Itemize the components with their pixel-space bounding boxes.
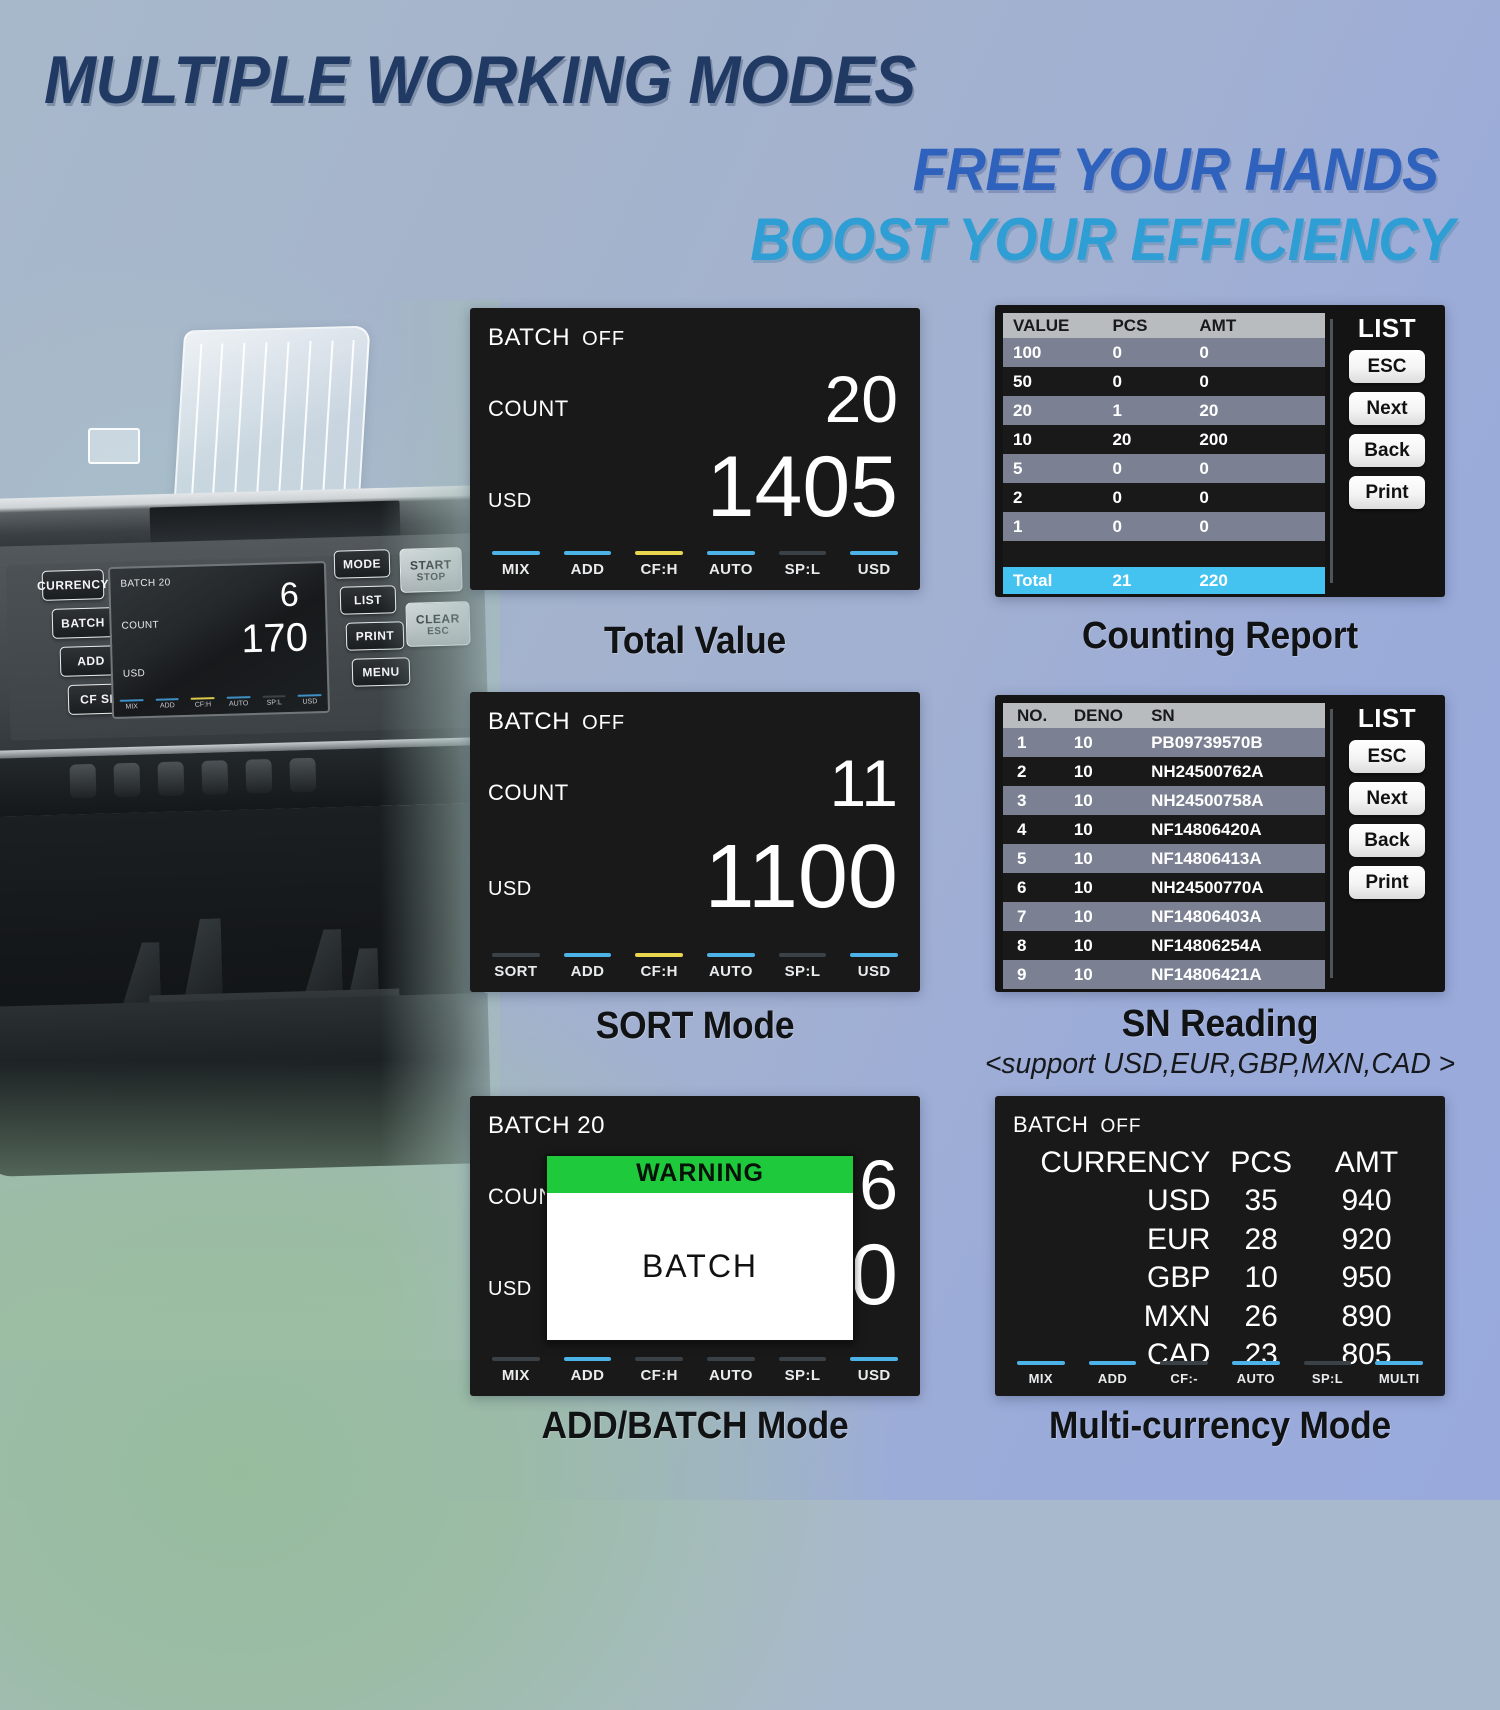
machine-lcd-amount-value: 170	[241, 616, 309, 663]
indicator-bar-sort	[492, 953, 540, 957]
batch-label: BATCH	[488, 324, 570, 351]
indicator-bar-cf	[635, 1357, 683, 1361]
batch-label: BATCH	[488, 708, 570, 735]
headline-line-2: FREE YOUR HANDS	[912, 140, 1438, 200]
table-row: 200	[1003, 483, 1325, 512]
cell-currency: USD	[1035, 1182, 1214, 1220]
cell-no: 2	[1003, 762, 1074, 782]
cell-value: 2	[1003, 488, 1112, 508]
cell-value: 10	[1003, 430, 1112, 450]
warning-dialog-message: BATCH	[547, 1193, 853, 1340]
indicator-bar-usd	[850, 551, 898, 555]
machine-indicator-label: CF:H	[185, 701, 221, 709]
cell-value: 20	[1003, 401, 1112, 421]
screen-sn-reading: NO. DENO SN 110PB09739570B 210NH24500762…	[995, 695, 1445, 992]
indicator-label-cf: CF:H	[623, 963, 695, 980]
table-row: GBP10950	[1035, 1259, 1425, 1297]
indicator-bar-usd	[850, 1357, 898, 1361]
multi-currency-table: CURRENCY PCS AMT USD35940 EUR28920 GBP10…	[1035, 1144, 1425, 1374]
sort-mode-count-label: COUNT	[488, 780, 569, 806]
indicator-label-cf: CF:H	[623, 1367, 695, 1384]
indicator-bar-cf	[1160, 1361, 1208, 1365]
table-row: 910NF14806421A	[1003, 960, 1325, 989]
cell-sn: NF14806254A	[1151, 936, 1325, 956]
column-header-deno: DENO	[1074, 706, 1151, 726]
hopper-clip	[88, 428, 140, 464]
machine-indicator-label: AUTO	[221, 700, 257, 708]
indicator-bar-add	[1089, 1361, 1137, 1365]
cell-no: 4	[1003, 820, 1074, 840]
counting-report-table: VALUE PCS AMT 10000 5000 20120 1020200 5…	[1003, 313, 1325, 589]
caption-add-batch-mode: ADD/BATCH Mode	[486, 1405, 905, 1448]
cell-amt: 890	[1308, 1298, 1425, 1336]
caption-total-value: Total Value	[486, 620, 905, 663]
indicator-bar-mix	[1017, 1361, 1065, 1365]
cell-currency: EUR	[1035, 1221, 1214, 1259]
screen-multi-currency: BATCHOFF CURRENCY PCS AMT USD35940 EUR28…	[995, 1096, 1445, 1396]
sort-mode-currency-label: USD	[488, 878, 532, 901]
headline-line-1: MULTIPLE WORKING MODES	[44, 46, 915, 114]
indicator-bar-auto	[1232, 1361, 1280, 1365]
indicator-label-auto: AUTO	[695, 1367, 767, 1384]
table-row: 310NH24500758A	[1003, 786, 1325, 815]
table-row-spacer	[1003, 541, 1325, 567]
cell-pcs: 0	[1112, 459, 1199, 479]
esc-button[interactable]: ESC	[1349, 350, 1425, 383]
total-value-indicator-bar: MIX ADD CF:H AUTO SP:L USD	[480, 551, 910, 578]
total-value-currency-label: USD	[488, 490, 532, 513]
cell-sn: NF14806413A	[1151, 849, 1325, 869]
machine-lcd-batch: BATCH 20	[120, 577, 171, 589]
cell-sn: NH24500758A	[1151, 791, 1325, 811]
warning-dialog-title: WARNING	[547, 1156, 853, 1193]
indicator-label-add: ADD	[1077, 1371, 1149, 1386]
cell-sn: PB09739570B	[1151, 733, 1325, 753]
table-row: MXN26890	[1035, 1298, 1425, 1336]
indicator-label-add: ADD	[552, 963, 624, 980]
column-header-amt: AMT	[1308, 1144, 1425, 1182]
machine-lcd-indicator-bar: MIX ADD CF:H AUTO SP:L USD	[114, 694, 328, 711]
cell-amt: 200	[1199, 430, 1325, 450]
cell-total-label: Total	[1003, 571, 1112, 591]
machine-lcd-currency-label: USD	[123, 668, 146, 680]
cell-no: 7	[1003, 907, 1074, 927]
headline-line-3: BOOST YOUR EFFICIENCY	[750, 210, 1454, 270]
cell-deno: 10	[1074, 936, 1151, 956]
table-row: 810NF14806254A	[1003, 931, 1325, 960]
multi-currency-batch-header: BATCHOFF	[1013, 1112, 1141, 1138]
batch-value: OFF	[582, 712, 625, 734]
sort-mode-indicator-bar: SORT ADD CF:H AUTO SP:L USD	[480, 953, 910, 980]
counting-report-side-panel: LIST ESC Next Back Print	[1335, 313, 1439, 518]
cell-amt: 950	[1308, 1259, 1425, 1297]
indicator-label-add: ADD	[552, 1367, 624, 1384]
indicator-bar-cf	[635, 551, 683, 555]
indicator-label-sp: SP:L	[767, 1367, 839, 1384]
cell-pcs: 0	[1112, 488, 1199, 508]
indicator-bar-multi	[1375, 1361, 1423, 1365]
cell-value: 100	[1003, 343, 1112, 363]
multi-currency-header-row: CURRENCY PCS AMT	[1035, 1144, 1425, 1182]
add-batch-count-value: 6	[859, 1150, 898, 1220]
indicator-bar-auto	[707, 1357, 755, 1361]
table-row: 210NH24500762A	[1003, 757, 1325, 786]
cell-deno: 10	[1074, 762, 1151, 782]
cell-pcs: 1	[1112, 401, 1199, 421]
cell-sn: NH24500770A	[1151, 878, 1325, 898]
cell-pcs: 0	[1112, 343, 1199, 363]
table-row: 500	[1003, 454, 1325, 483]
indicator-bar-cf	[635, 953, 683, 957]
cell-no: 1	[1003, 733, 1074, 753]
table-row: 100	[1003, 512, 1325, 541]
cell-pcs: 28	[1214, 1221, 1308, 1259]
next-button[interactable]: Next	[1349, 392, 1425, 425]
indicator-bar-add	[564, 953, 612, 957]
column-header-currency: CURRENCY	[1035, 1144, 1214, 1182]
cell-deno: 10	[1074, 907, 1151, 927]
indicator-label-cf: CF:H	[623, 561, 695, 578]
counting-report-header-row: VALUE PCS AMT	[1003, 313, 1325, 338]
column-header-amt: AMT	[1199, 316, 1325, 336]
machine-indicator-label: SP:L	[256, 699, 292, 707]
indicator-label-auto: AUTO	[695, 561, 767, 578]
sort-mode-count-value: 11	[829, 750, 898, 816]
money-counter-machine-photo: CURRENCY BATCH ADD CF SET MODE LIST PRIN…	[0, 300, 470, 1360]
cell-no: 3	[1003, 791, 1074, 811]
batch-label: BATCH	[1013, 1112, 1088, 1137]
indicator-bar-sp	[1304, 1361, 1352, 1365]
cell-amt: 20	[1199, 401, 1325, 421]
total-value-count-value: 20	[825, 366, 898, 432]
table-row: 1020200	[1003, 425, 1325, 454]
indicator-label-sp: SP:L	[767, 561, 839, 578]
add-batch-currency-label: USD	[488, 1278, 532, 1301]
indicator-bar-sp	[779, 1357, 827, 1361]
indicator-label-add: ADD	[552, 561, 624, 578]
warning-dialog: WARNING BATCH	[545, 1154, 855, 1342]
table-row: 410NF14806420A	[1003, 815, 1325, 844]
caption-sort-mode: SORT Mode	[486, 1005, 905, 1048]
table-row: EUR28920	[1035, 1221, 1425, 1259]
table-row: 10000	[1003, 338, 1325, 367]
cell-amt: 0	[1199, 372, 1325, 392]
machine-indicator-label: ADD	[149, 702, 185, 710]
cell-sn: NF14806421A	[1151, 965, 1325, 985]
cell-no: 6	[1003, 878, 1074, 898]
add-batch-batch-header: BATCH 20	[488, 1112, 605, 1140]
machine-indicator-label: MIX	[114, 703, 150, 711]
cell-value: 5	[1003, 459, 1112, 479]
column-header-pcs: PCS	[1214, 1144, 1308, 1182]
cell-pcs: 10	[1214, 1259, 1308, 1297]
cell-no: 9	[1003, 965, 1074, 985]
print-button[interactable]: Print	[1349, 476, 1425, 509]
machine-currency-button[interactable]: CURRENCY	[42, 569, 105, 601]
sort-mode-amount-value: 1100	[704, 832, 898, 922]
back-button[interactable]: Back	[1349, 434, 1425, 467]
indicator-bar-auto	[707, 953, 755, 957]
column-header-no: NO.	[1003, 706, 1074, 726]
cell-pcs: 35	[1214, 1182, 1308, 1220]
machine-lcd-count-label: COUNT	[121, 620, 159, 632]
cell-pcs: 0	[1112, 517, 1199, 537]
print-button[interactable]: Print	[1349, 866, 1425, 899]
indicator-bar-add	[564, 551, 612, 555]
cell-pcs: 26	[1214, 1298, 1308, 1336]
caption-sn-reading: SN Reading	[1011, 1003, 1430, 1046]
screen-add-batch-mode: BATCH 20 COUNT 6 USD 0 WARNING BATCH MIX…	[470, 1096, 920, 1396]
cell-amt: 940	[1308, 1182, 1425, 1220]
indicator-bar-mix	[492, 551, 540, 555]
sort-mode-batch-header: BATCHOFF	[488, 708, 625, 736]
cell-sn: NF14806420A	[1151, 820, 1325, 840]
cell-amt: 0	[1199, 488, 1325, 508]
indicator-label-sort: SORT	[480, 963, 552, 980]
side-panel-title: LIST	[1358, 313, 1416, 344]
indicator-label-auto: AUTO	[1220, 1371, 1292, 1386]
indicator-label-mix: MIX	[480, 1367, 552, 1384]
sn-reading-side-panel: LIST ESC Next Back Print	[1335, 703, 1439, 908]
indicator-label-cf: CF:-	[1148, 1371, 1220, 1386]
indicator-label-usd: USD	[838, 963, 910, 980]
table-row: 510NF14806413A	[1003, 844, 1325, 873]
screen-sort-mode: BATCHOFF COUNT 11 USD 1100 SORT ADD CF:H…	[470, 692, 920, 992]
indicator-label-mix: MIX	[1005, 1371, 1077, 1386]
cell-deno: 10	[1074, 849, 1151, 869]
total-value-amount-value: 1405	[707, 444, 898, 530]
panel-divider	[1330, 319, 1333, 583]
cell-value: 50	[1003, 372, 1112, 392]
indicator-bar-sp	[779, 551, 827, 555]
add-batch-amount-value: 0	[850, 1232, 898, 1318]
panel-divider	[1330, 709, 1333, 978]
cell-total-amt: 220	[1199, 571, 1325, 591]
cell-total-pcs: 21	[1112, 571, 1199, 591]
cell-amt: 0	[1199, 343, 1325, 363]
cell-pcs: 0	[1112, 372, 1199, 392]
indicator-bar-sp	[779, 953, 827, 957]
cell-deno: 10	[1074, 791, 1151, 811]
indicator-bar-usd	[850, 953, 898, 957]
caption-counting-report: Counting Report	[1011, 615, 1430, 658]
table-row: 710NF14806403A	[1003, 902, 1325, 931]
table-row: 610NH24500770A	[1003, 873, 1325, 902]
cell-sn: NH24500762A	[1151, 762, 1325, 782]
multi-currency-indicator-bar: MIX ADD CF:- AUTO SP:L MULTI	[1005, 1361, 1435, 1386]
column-header-pcs: PCS	[1112, 316, 1199, 336]
screen-total-value: BATCHOFF COUNT 20 USD 1405 MIX ADD CF:H …	[470, 308, 920, 590]
cell-amt: 920	[1308, 1221, 1425, 1259]
counting-report-total-row: Total21220	[1003, 567, 1325, 594]
total-value-count-label: COUNT	[488, 396, 569, 422]
cell-no: 8	[1003, 936, 1074, 956]
indicator-bar-add	[564, 1357, 612, 1361]
column-header-value: VALUE	[1003, 316, 1112, 336]
table-row: 20120	[1003, 396, 1325, 425]
cell-amt: 0	[1199, 517, 1325, 537]
machine-lcd-count-value: 6	[279, 576, 299, 616]
subcaption-sn-reading: <support USD,EUR,GBP,MXN,CAD >	[963, 1048, 1477, 1081]
cell-currency: GBP	[1035, 1259, 1214, 1297]
cell-deno: 10	[1074, 965, 1151, 985]
caption-multi-currency: Multi-currency Mode	[1011, 1405, 1430, 1448]
back-button[interactable]: Back	[1349, 824, 1425, 857]
indicator-label-auto: AUTO	[695, 963, 767, 980]
indicator-label-usd: USD	[838, 561, 910, 578]
cell-pcs: 20	[1112, 430, 1199, 450]
total-value-batch-header: BATCHOFF	[488, 324, 625, 352]
table-row: 5000	[1003, 367, 1325, 396]
table-row: 110PB09739570B	[1003, 728, 1325, 757]
cell-no: 5	[1003, 849, 1074, 869]
cell-deno: 10	[1074, 820, 1151, 840]
indicator-label-multi: MULTI	[1363, 1371, 1435, 1386]
sn-reading-table: NO. DENO SN 110PB09739570B 210NH24500762…	[1003, 703, 1325, 984]
esc-button[interactable]: ESC	[1349, 740, 1425, 773]
indicator-label-sp: SP:L	[1292, 1371, 1364, 1386]
cell-deno: 10	[1074, 733, 1151, 753]
add-batch-indicator-bar: MIX ADD CF:H AUTO SP:L USD	[480, 1357, 910, 1384]
cell-amt: 0	[1199, 459, 1325, 479]
cell-sn: NF14806403A	[1151, 907, 1325, 927]
indicator-bar-mix	[492, 1357, 540, 1361]
cell-value: 1	[1003, 517, 1112, 537]
indicator-label-sp: SP:L	[767, 963, 839, 980]
indicator-label-mix: MIX	[480, 561, 552, 578]
machine-lcd-screen: BATCH 20 COUNT USD 6 170 MIX ADD CF:H AU…	[108, 561, 330, 719]
indicator-bar-auto	[707, 551, 755, 555]
cell-currency: MXN	[1035, 1298, 1214, 1336]
table-row: USD35940	[1035, 1182, 1425, 1220]
indicator-label-usd: USD	[838, 1367, 910, 1384]
machine-indicator-label: USD	[292, 698, 328, 706]
side-panel-title: LIST	[1358, 703, 1416, 734]
cell-deno: 10	[1074, 878, 1151, 898]
batch-value: OFF	[582, 328, 625, 350]
next-button[interactable]: Next	[1349, 782, 1425, 815]
column-header-sn: SN	[1151, 706, 1325, 726]
machine-batch-button[interactable]: BATCH	[52, 607, 115, 639]
batch-value: OFF	[1100, 1116, 1141, 1137]
screen-counting-report: VALUE PCS AMT 10000 5000 20120 1020200 5…	[995, 305, 1445, 597]
batch-label: BATCH 20	[488, 1112, 605, 1139]
sn-reading-header-row: NO. DENO SN	[1003, 703, 1325, 728]
